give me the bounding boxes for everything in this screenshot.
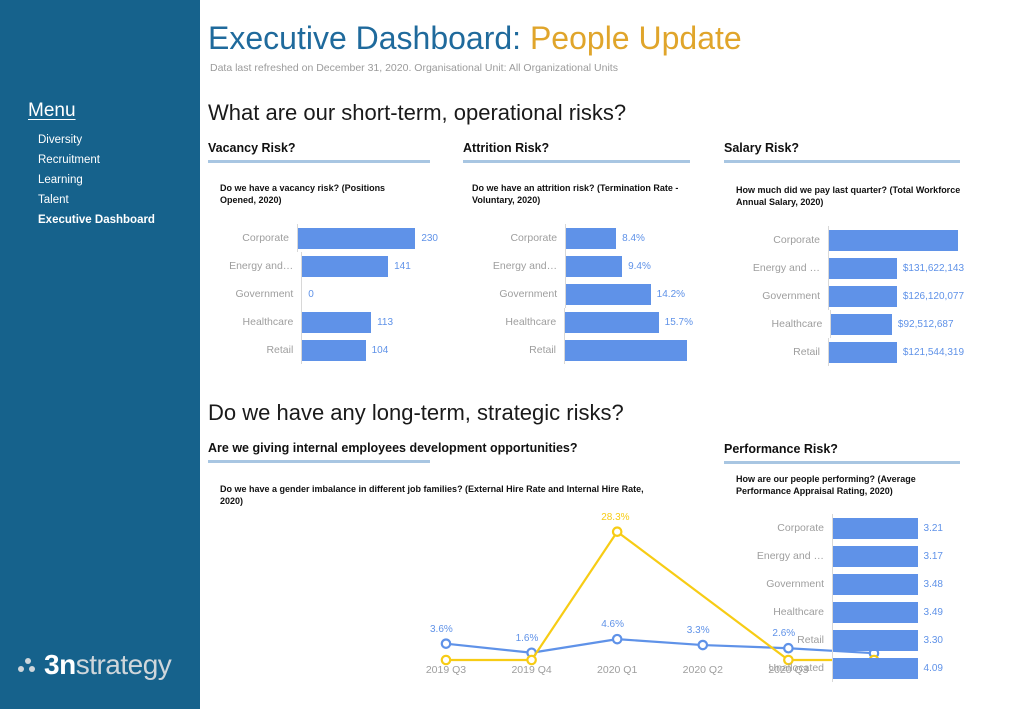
bar-value-label: 3.30 — [918, 635, 943, 646]
bar-row: Energy and…141 — [208, 252, 438, 280]
page-title: Executive Dashboard: People Update — [208, 20, 742, 57]
chart-question-performance: How are our people performing? (Average … — [736, 473, 964, 497]
bar-track: 3.49 — [832, 598, 943, 626]
bar-track: $126,120,077 — [828, 282, 964, 310]
page-title-main: Executive Dashboard: — [208, 20, 530, 56]
bar-category-label: Corporate — [463, 232, 565, 244]
bar-category-label: Government — [463, 288, 565, 300]
bar-track: $131,622,143 — [828, 254, 964, 282]
three-dots-icon — [18, 654, 40, 676]
sidebar-item-talent[interactable]: Talent — [38, 190, 198, 210]
panel-rule-performance — [724, 461, 960, 464]
bar-track: 113 — [301, 308, 438, 336]
bar-row: Government0 — [208, 280, 438, 308]
bar-category-label: Retail — [724, 346, 828, 358]
panel-title-vacancy: Vacancy Risk? — [208, 141, 296, 155]
bar-row: Healthcare113 — [208, 308, 438, 336]
bar-chart-attrition[interactable]: Corporate8.4%Energy and…9.4%Government14… — [463, 224, 693, 364]
sidebar-item-learning[interactable]: Learning — [38, 170, 198, 190]
company-logo: 3nstrategy — [18, 649, 171, 681]
line-data-point[interactable] — [527, 656, 535, 664]
bar-row: Corporate230 — [208, 224, 438, 252]
bar-value-label: 230 — [415, 233, 438, 244]
bar-fill[interactable] — [833, 546, 918, 567]
bar-value-label: $126,120,077 — [897, 291, 964, 302]
line-point-label: 3.6% — [430, 624, 453, 635]
bar-row: Corporate8.4% — [463, 224, 693, 252]
bar-row: Energy and…9.4% — [463, 252, 693, 280]
bar-chart-performance[interactable]: Corporate3.21Energy and …3.17Government3… — [724, 514, 964, 682]
bar-row: Retail — [463, 336, 693, 364]
bar-category-label: Corporate — [208, 232, 297, 244]
bar-chart-vacancy[interactable]: Corporate230Energy and…141Government0Hea… — [208, 224, 438, 364]
menu-title: Menu — [28, 100, 76, 122]
sidebar-item-diversity[interactable]: Diversity — [38, 130, 198, 150]
bar-row: Retail3.30 — [724, 626, 964, 654]
line-point-label: 28.3% — [601, 512, 629, 523]
bar-track: 141 — [301, 252, 438, 280]
bar-value-label: 104 — [366, 345, 389, 356]
refresh-subtitle: Data last refreshed on December 31, 2020… — [210, 62, 618, 74]
bar-value-label: $121,544,319 — [897, 347, 964, 358]
bar-fill[interactable] — [298, 228, 415, 249]
bar-value-label: 0 — [302, 289, 314, 300]
bar-track: 3.21 — [832, 514, 943, 542]
sidebar-menu-list: Diversity Recruitment Learning Talent Ex… — [38, 130, 198, 230]
logo-word: strategy — [76, 649, 172, 680]
bar-category-label: Healthcare — [463, 316, 564, 328]
line-data-point[interactable] — [442, 656, 450, 664]
bar-track: 0 — [301, 280, 438, 308]
bar-fill[interactable] — [833, 574, 918, 595]
bar-category-label: Government — [724, 290, 828, 302]
panel-title-performance: Performance Risk? — [724, 442, 838, 456]
bar-category-label: Healthcare — [208, 316, 301, 328]
bar-value-label: 15.7% — [659, 317, 693, 328]
bar-fill[interactable] — [829, 258, 897, 279]
panel-rule-salary — [724, 160, 960, 163]
bar-row: Government14.2% — [463, 280, 693, 308]
bar-track: 104 — [301, 336, 438, 364]
bar-row: Healthcare$92,512,687 — [724, 310, 964, 338]
bar-value-label: 9.4% — [622, 261, 651, 272]
panel-title-development: Are we giving internal employees develop… — [208, 441, 578, 455]
bar-category-label: Government — [208, 288, 301, 300]
bar-track: 4.09 — [832, 654, 943, 682]
bar-track — [564, 336, 693, 364]
bar-track — [828, 226, 964, 254]
bar-fill[interactable] — [302, 312, 371, 333]
bar-value-label: $131,622,143 — [897, 263, 964, 274]
panel-rule-development — [208, 460, 430, 463]
bar-value-label: 4.09 — [918, 663, 943, 674]
section-heading-long-term: Do we have any long-term, strategic risk… — [208, 400, 624, 426]
bar-category-label: Energy and… — [463, 260, 565, 272]
line-point-label: 4.6% — [601, 619, 624, 630]
line-data-point[interactable] — [442, 639, 450, 647]
bar-track: 230 — [297, 224, 438, 252]
bar-value-label: 3.49 — [918, 607, 943, 618]
chart-question-salary: How much did we pay last quarter? (Total… — [736, 184, 964, 208]
bar-fill[interactable] — [566, 284, 651, 305]
bar-category-label: Government — [724, 578, 832, 590]
bar-fill[interactable] — [829, 286, 897, 307]
bar-row: Corporate — [724, 226, 964, 254]
bar-category-label: Energy and … — [724, 550, 832, 562]
bar-track: 3.48 — [832, 570, 943, 598]
bar-fill[interactable] — [831, 314, 892, 335]
bar-value-label: 8.4% — [616, 233, 645, 244]
bar-fill[interactable] — [565, 312, 658, 333]
bar-fill[interactable] — [302, 256, 388, 277]
sidebar: Menu Diversity Recruitment Learning Tale… — [0, 0, 200, 709]
main-content: Executive Dashboard: People Update Data … — [200, 0, 1018, 709]
bar-value-label: 3.17 — [918, 551, 943, 562]
line-point-label: 3.3% — [687, 625, 710, 636]
bar-category-label: Energy and … — [724, 262, 828, 274]
logo-text: 3nstrategy — [44, 649, 171, 681]
bar-category-label: Corporate — [724, 522, 832, 534]
bar-fill[interactable] — [829, 230, 958, 251]
bar-category-label: Healthcare — [724, 606, 832, 618]
bar-category-label: Retail — [208, 344, 301, 356]
bar-row: Corporate3.21 — [724, 514, 964, 542]
section-heading-short-term: What are our short-term, operational ris… — [208, 100, 626, 126]
bar-track: 15.7% — [564, 308, 693, 336]
bar-category-label: Retail — [724, 634, 832, 646]
bar-value-label: 113 — [371, 317, 393, 328]
bar-fill[interactable] — [566, 228, 616, 249]
bar-value-label: 14.2% — [651, 289, 685, 300]
panel-title-salary: Salary Risk? — [724, 141, 799, 155]
bar-row: Government3.48 — [724, 570, 964, 598]
line-data-point[interactable] — [613, 528, 621, 536]
chart-question-attrition: Do we have an attrition risk? (Terminati… — [472, 182, 682, 206]
bar-fill[interactable] — [565, 340, 687, 361]
line-data-point[interactable] — [613, 635, 621, 643]
line-x-axis-label: 2020 Q1 — [572, 664, 662, 676]
bar-value-label: $92,512,687 — [892, 319, 954, 330]
chart-question-vacancy: Do we have a vacancy risk? (Positions Op… — [220, 182, 420, 206]
bar-row: Retail104 — [208, 336, 438, 364]
bar-fill[interactable] — [833, 630, 918, 651]
line-x-axis-label: 2019 Q3 — [401, 664, 491, 676]
bar-row: Healthcare15.7% — [463, 308, 693, 336]
bar-track: $92,512,687 — [830, 310, 964, 338]
bar-category-label: Energy and… — [208, 260, 301, 272]
panel-title-attrition: Attrition Risk? — [463, 141, 549, 155]
panel-rule-attrition — [463, 160, 690, 163]
bar-track: $121,544,319 — [828, 338, 964, 366]
bar-value-label: 3.21 — [918, 523, 943, 534]
bar-fill[interactable] — [833, 602, 918, 623]
bar-fill[interactable] — [833, 658, 918, 679]
chart-question-development: Do we have a gender imbalance in differe… — [220, 483, 660, 507]
bar-track: 3.30 — [832, 626, 943, 654]
bar-fill[interactable] — [566, 256, 622, 277]
bar-track: 14.2% — [565, 280, 693, 308]
bar-fill[interactable] — [302, 340, 365, 361]
bar-row: Healthcare3.49 — [724, 598, 964, 626]
line-x-axis-label: 2019 Q4 — [487, 664, 577, 676]
bar-category-label: Unallocated — [724, 662, 832, 674]
bar-value-label: 3.48 — [918, 579, 943, 590]
bar-row: Unallocated4.09 — [724, 654, 964, 682]
logo-mark: 3n — [44, 649, 76, 680]
sidebar-item-recruitment[interactable]: Recruitment — [38, 150, 198, 170]
bar-category-label: Corporate — [724, 234, 828, 246]
panel-rule-vacancy — [208, 160, 430, 163]
bar-value-label: 141 — [388, 261, 411, 272]
bar-row: Government$126,120,077 — [724, 282, 964, 310]
bar-chart-salary[interactable]: CorporateEnergy and …$131,622,143Governm… — [724, 226, 964, 366]
line-data-point[interactable] — [699, 641, 707, 649]
bar-category-label: Healthcare — [724, 318, 830, 330]
bar-track: 3.17 — [832, 542, 943, 570]
bar-track: 9.4% — [565, 252, 693, 280]
sidebar-item-executive-dashboard[interactable]: Executive Dashboard — [38, 210, 198, 230]
line-point-label: 1.6% — [516, 633, 539, 644]
bar-row: Energy and …3.17 — [724, 542, 964, 570]
bar-track: 8.4% — [565, 224, 693, 252]
bar-category-label: Retail — [463, 344, 564, 356]
bar-row: Energy and …$131,622,143 — [724, 254, 964, 282]
page-title-accent: People Update — [530, 20, 742, 56]
bar-row: Retail$121,544,319 — [724, 338, 964, 366]
bar-fill[interactable] — [833, 518, 918, 539]
bar-fill[interactable] — [829, 342, 897, 363]
